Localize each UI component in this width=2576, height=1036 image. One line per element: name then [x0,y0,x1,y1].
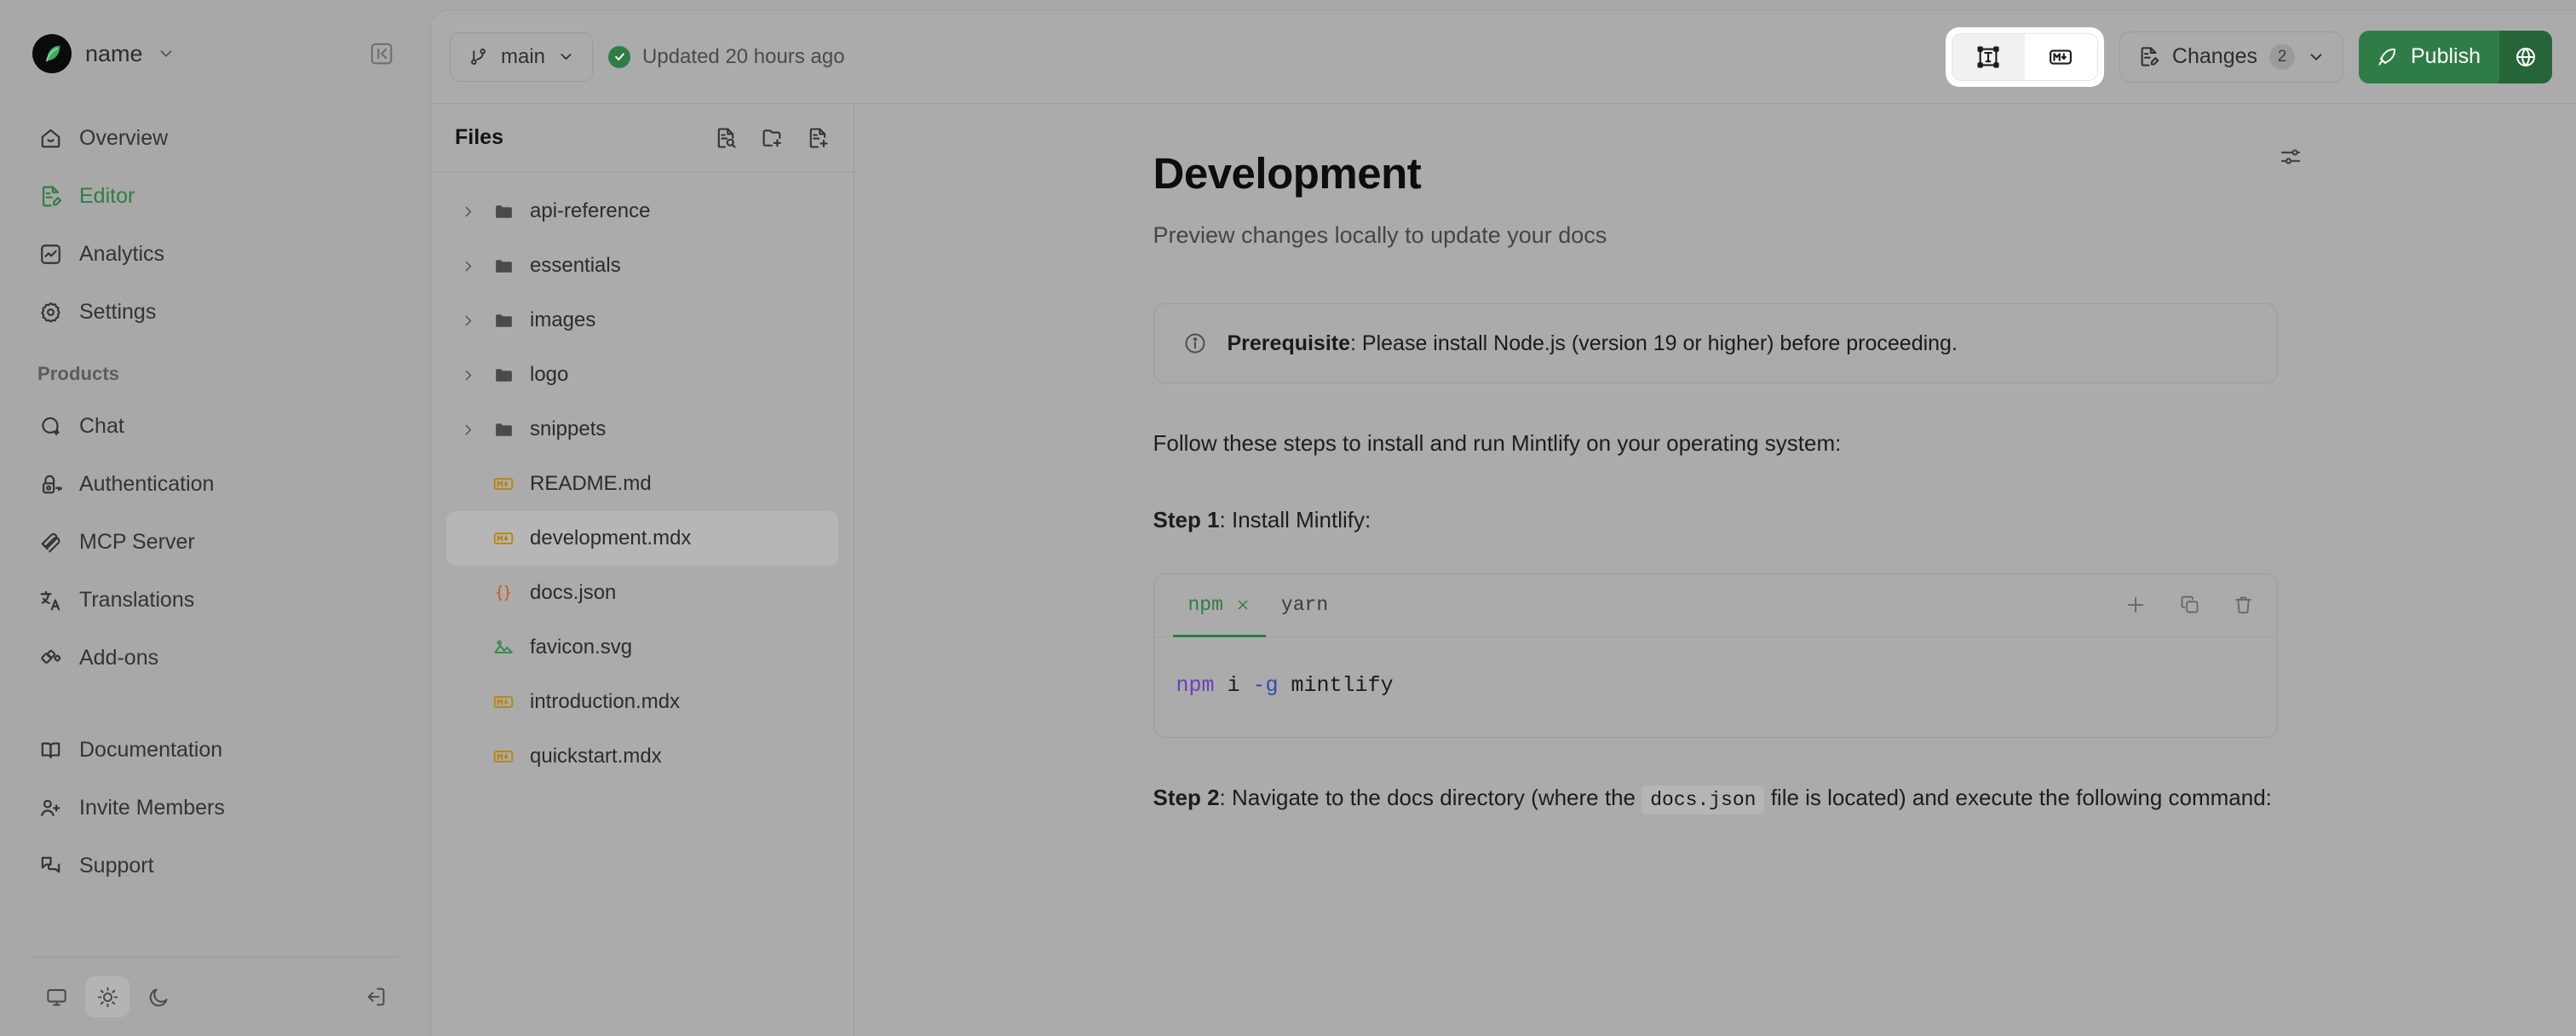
file-tree-folder-logo[interactable]: logo [446,348,838,402]
markdown-icon[interactable] [2025,34,2097,80]
sidebar-item-settings[interactable]: Settings [26,283,405,341]
mcp-layers-icon [37,529,63,555]
lock-key-icon [37,471,63,497]
sidebar-item-label: Translations [79,588,194,613]
code-tab-yarn[interactable]: yarn [1266,573,1343,636]
sidebar-item-analytics[interactable]: Analytics [26,225,405,283]
file-tree-label: logo [530,363,568,387]
main-card: main Updated 20 hours ago [430,9,2576,1036]
sidebar-item-add-ons[interactable]: Add-ons [26,629,405,687]
file-tree-label: introduction.mdx [530,690,680,714]
rocket-icon [2376,45,2399,68]
file-tree-label: development.mdx [530,527,691,550]
editor-body: Files [431,104,2576,1036]
step-1-paragraph: Step 1: Install Mintlify: [1153,503,2278,537]
theme-switcher [34,976,181,1017]
file-tree-folder-essentials[interactable]: essentials [446,239,838,293]
editor-mode-toggle-highlight [1946,27,2104,87]
search-file-icon[interactable] [714,126,738,150]
products-section-label: Products [26,363,405,385]
sidebar-item-mcp-server[interactable]: MCP Server [26,513,405,571]
sun-icon[interactable] [85,976,129,1017]
callout-bold: Prerequisite [1228,331,1351,355]
gear-icon [37,299,63,325]
page-title: Development [1153,148,2278,199]
sidebar-item-label: MCP Server [79,530,195,555]
sidebar-footer [26,958,405,1036]
sidebar-item-label: Authentication [79,472,214,497]
file-tree-file-readme[interactable]: README.md [446,457,838,511]
new-file-icon[interactable] [806,126,830,150]
code-token-package: mintlify [1279,673,1394,698]
prerequisite-callout: Prerequisite: Please install Node.js (ve… [1153,303,2278,383]
org-switcher[interactable]: name [32,34,175,73]
chat-sparkle-icon [37,413,63,439]
code-token-flag: -g [1253,673,1279,698]
branch-name: main [501,45,545,69]
step-2-text-after: file is located) and execute the followi… [1764,785,2271,810]
code-block: npm yarn [1153,573,2278,738]
chevron-down-icon [157,44,175,63]
sidebar-item-support[interactable]: Support [26,837,405,895]
close-icon[interactable] [1235,597,1251,613]
editor-mode-toggle [1952,33,2098,81]
step-2-paragraph: Step 2: Navigate to the docs directory (… [1153,780,2278,816]
code-tab-label: npm [1188,594,1223,616]
code-token-command: npm [1176,673,1215,698]
chevron-right-icon [458,423,477,437]
inline-code-docs-json: docs.json [1642,786,1764,814]
sidebar-item-translations[interactable]: Translations [26,571,405,629]
publish-label: Publish [2411,44,2481,69]
intro-paragraph: Follow these steps to install and run Mi… [1153,426,2278,460]
folder-icon [491,201,516,222]
markdown-icon [491,473,516,495]
file-tree: api-reference essentials images [431,172,854,796]
secondary-nav: Documentation Invite Members Support [26,721,405,895]
file-tree-folder-api-reference[interactable]: api-reference [446,184,838,239]
code-block-content[interactable]: npm i -g mintlify [1154,637,2277,737]
step-1-label: Step 1 [1153,507,1220,532]
leaf-logo-icon [32,34,72,73]
file-tree-label: quickstart.mdx [530,745,662,768]
document-editor[interactable]: Development Preview changes locally to u… [854,104,2576,1036]
top-toolbar: main Updated 20 hours ago [431,10,2576,104]
org-name: name [85,41,143,67]
folder-icon [491,310,516,331]
file-tree-file-docs-json[interactable]: docs.json [446,566,838,620]
file-tree-file-introduction[interactable]: introduction.mdx [446,675,838,729]
collapse-sidebar-icon[interactable] [365,37,398,70]
sidebar-item-authentication[interactable]: Authentication [26,455,405,513]
addons-diamond-icon [37,645,63,671]
branch-selector[interactable]: main [450,32,593,82]
primary-nav: Overview Editor Analytics Settings [26,109,405,341]
sidebar-spacer [26,895,405,957]
chevron-down-icon [557,48,575,66]
files-panel-title: Files [455,125,503,150]
code-token-arg: i [1215,673,1253,698]
sidebar-item-invite-members[interactable]: Invite Members [26,779,405,837]
chart-square-icon [37,241,63,267]
sidebar-item-label: Analytics [79,242,164,267]
info-circle-icon [1183,331,1207,355]
chevron-right-icon [458,314,477,328]
home-icon [37,125,63,151]
markdown-icon [491,527,516,550]
sidebar-item-label: Overview [79,126,168,151]
sidebar-item-overview[interactable]: Overview [26,109,405,167]
publish-main[interactable]: Publish [2359,31,2499,83]
files-panel: Files [431,104,854,1036]
sidebar-item-label: Invite Members [79,796,225,820]
globe-icon[interactable] [2499,31,2552,83]
sidebar-item-documentation[interactable]: Documentation [26,721,405,779]
sidebar-item-editor[interactable]: Editor [26,167,405,225]
callout-text: Prerequisite: Please install Node.js (ve… [1228,331,1958,356]
step-2-text-before: : Navigate to the docs directory (where … [1220,785,1642,810]
document-body: Development Preview changes locally to u… [1102,148,2329,815]
check-circle-icon [608,46,630,68]
chevron-right-icon [458,368,477,383]
support-chat-icon [37,853,63,878]
file-tree-label: api-reference [530,199,650,223]
sidebar-item-label: Settings [79,300,156,325]
logout-icon[interactable] [355,976,396,1017]
translate-icon [37,587,63,613]
sync-status: Updated 20 hours ago [608,45,845,69]
callout-rest: : Please install Node.js (version 19 or … [1350,331,1958,355]
file-tree-file-favicon[interactable]: favicon.svg [446,620,838,675]
sidebar-item-chat[interactable]: Chat [26,397,405,455]
publish-button[interactable]: Publish [2359,31,2552,83]
add-tab-icon[interactable] [2124,593,2148,617]
user-plus-icon [37,795,63,820]
code-block-actions [2124,593,2255,617]
sidebar-item-label: Add-ons [79,646,158,671]
code-tab-label: yarn [1281,594,1328,616]
file-tree-label: README.md [530,472,652,496]
new-folder-icon[interactable] [760,126,784,150]
moon-icon[interactable] [136,976,181,1017]
copy-icon[interactable] [2178,593,2201,617]
chevron-right-icon [458,204,477,219]
folder-icon [491,365,516,386]
file-tree-file-quickstart[interactable]: quickstart.mdx [446,729,838,784]
file-tree-label: essentials [530,254,621,278]
delete-icon[interactable] [2232,593,2255,617]
file-tree-label: docs.json [530,581,616,605]
sidebar-item-label: Chat [79,414,124,439]
book-icon [37,737,63,763]
file-edit-icon [37,183,63,209]
json-icon [491,582,516,604]
nav-gap [26,687,405,719]
changes-label: Changes [2172,44,2257,69]
file-tree-label: favicon.svg [530,636,632,659]
folder-icon [491,419,516,440]
sidebar-header: name [26,0,405,107]
code-block-tabs: npm yarn [1154,574,2277,637]
folder-icon [491,256,516,277]
file-tree-label: snippets [530,417,606,441]
image-icon [491,636,516,659]
app-root: name Overview E [0,0,2576,1036]
file-tree-folder-snippets[interactable]: snippets [446,402,838,457]
file-edit-icon [2137,45,2160,68]
file-tree-folder-images[interactable]: images [446,293,838,348]
chevron-right-icon [458,259,477,273]
markdown-icon [491,745,516,768]
files-panel-actions [714,126,830,150]
sidebar-item-label: Documentation [79,738,222,763]
sync-status-text: Updated 20 hours ago [642,45,845,69]
sliders-icon[interactable] [2278,144,2303,170]
step-2-label: Step 2 [1153,785,1220,810]
left-sidebar: name Overview E [0,0,430,1036]
changes-count-badge: 2 [2269,44,2295,70]
text-frame-icon[interactable] [1952,34,2025,80]
changes-button[interactable]: Changes 2 [2119,32,2343,83]
products-nav: Chat Authentication MCP Server Translati… [26,397,405,687]
step-1-text: : Install Mintlify: [1220,507,1371,532]
files-panel-header: Files [431,104,854,172]
sidebar-item-label: Editor [79,184,135,209]
file-tree-label: images [530,308,595,332]
page-subtitle: Preview changes locally to update your d… [1153,222,2278,249]
file-tree-file-development[interactable]: development.mdx [446,511,838,566]
monitor-icon[interactable] [34,976,78,1017]
chevron-down-icon [2307,48,2326,66]
sidebar-item-label: Support [79,854,154,878]
git-branch-icon [468,46,489,67]
markdown-icon [491,691,516,713]
code-tab-npm[interactable]: npm [1173,573,1266,636]
